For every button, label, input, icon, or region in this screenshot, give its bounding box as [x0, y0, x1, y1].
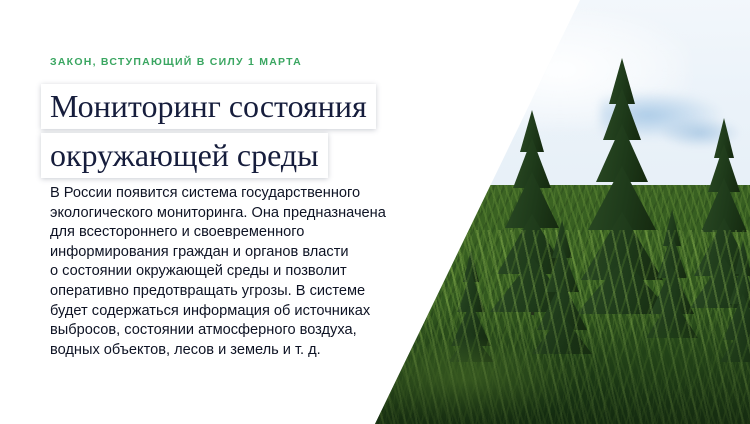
body-paragraph: В России появится система государственно…	[50, 184, 386, 360]
slide-canvas: ЗАКОН, ВСТУПАЮЩИЙ В СИЛУ 1 МАРТА Монитор…	[0, 0, 750, 424]
title-line-2: окружающей среды	[41, 133, 328, 178]
title-line-1: Мониторинг состояния	[41, 84, 376, 129]
text-content: ЗАКОН, ВСТУПАЮЩИЙ В СИЛУ 1 МАРТА Монитор…	[0, 0, 440, 424]
eyebrow-label: ЗАКОН, ВСТУПАЮЩИЙ В СИЛУ 1 МАРТА	[50, 56, 302, 68]
page-title: Мониторинг состояния окружающей среды	[41, 84, 376, 182]
